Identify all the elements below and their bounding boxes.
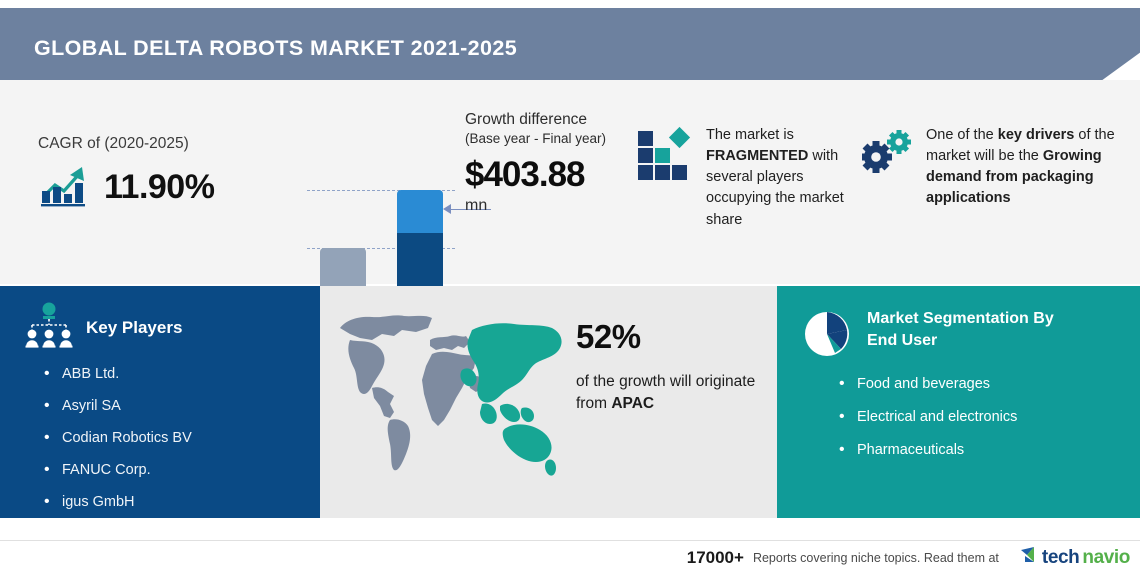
growth-unit: mn: [465, 197, 645, 215]
footer: 17000+ Reports covering niche topics. Re…: [0, 518, 1140, 570]
header-banner: GLOBAL DELTA ROBOTS MARKET 2021-2025: [0, 8, 1140, 80]
org-chart-people-icon: [24, 302, 74, 353]
drivers-emphasis-4: applications: [926, 190, 1011, 206]
drivers-emphasis-1: key drivers: [998, 127, 1075, 143]
report-count: 17000+: [687, 548, 744, 568]
segmentation-header: Market Segmentation By End User: [801, 308, 1082, 365]
list-item: Codian Robotics BV: [44, 430, 192, 446]
cagr-label: CAGR of (2020-2025): [38, 135, 214, 153]
callout-arrow-icon: [443, 204, 451, 214]
technavio-logo[interactable]: tech navio: [1020, 546, 1130, 569]
list-item: Food and beverages: [839, 376, 1017, 392]
stats-strip: CAGR of (2020-2025) 11.90%: [0, 80, 1140, 284]
logo-text-tech: tech: [1042, 547, 1079, 569]
bar-growth-segment: [397, 190, 443, 233]
pie-chart-icon: [801, 308, 853, 365]
list-item: igus GmbH: [44, 494, 192, 510]
list-item: Electrical and electronics: [839, 409, 1017, 425]
cagr-block: CAGR of (2020-2025) 11.90%: [38, 135, 214, 212]
region-percent: 52%: [576, 318, 641, 356]
region-name: APAC: [611, 395, 654, 412]
fragmented-text: The market is FRAGMENTED with several pl…: [706, 125, 866, 231]
growth-subtitle: (Base year - Final year): [465, 130, 645, 147]
growth-difference-block: Growth difference (Base year - Final yea…: [465, 110, 645, 215]
key-players-title: Key Players: [86, 318, 182, 338]
page-title: GLOBAL DELTA ROBOTS MARKET 2021-2025: [34, 36, 517, 61]
bar-chart-growth-icon: [38, 163, 90, 212]
key-drivers-block: One of the key drivers of the market wil…: [862, 125, 1116, 210]
growth-title: Growth difference: [465, 110, 645, 130]
key-players-header: Key Players: [24, 302, 182, 353]
list-item: Pharmaceuticals: [839, 442, 1017, 458]
infographic-canvas: GLOBAL DELTA ROBOTS MARKET 2021-2025 CAG…: [0, 0, 1140, 570]
fragmented-block: The market is FRAGMENTED with several pl…: [636, 125, 866, 231]
footer-divider: [0, 540, 1140, 541]
drivers-emphasis-3: from packaging: [986, 169, 1094, 185]
list-item: ABB Ltd.: [44, 366, 192, 382]
segmentation-title: Market Segmentation By End User: [867, 308, 1082, 365]
gears-icon: [862, 125, 914, 210]
logo-text-navio: navio: [1082, 547, 1130, 569]
technavio-arrow-icon: [1020, 546, 1039, 569]
cagr-value: 11.90%: [104, 168, 214, 207]
world-map: [332, 300, 572, 490]
key-drivers-text: One of the key drivers of the market wil…: [926, 125, 1116, 210]
market-segmentation-panel: Market Segmentation By End User Food and…: [777, 286, 1140, 518]
fragmented-blocks-icon: [636, 125, 692, 231]
fragmented-emphasis: FRAGMENTED: [706, 148, 808, 164]
footer-content: 17000+ Reports covering niche topics. Re…: [687, 546, 1130, 569]
key-players-panel: Key Players ABB Ltd. Asyril SA Codian Ro…: [0, 286, 320, 518]
region-growth-panel: 52% of the growth will originate from AP…: [320, 286, 777, 518]
list-item: Asyril SA: [44, 398, 192, 414]
key-players-list: ABB Ltd. Asyril SA Codian Robotics BV FA…: [44, 366, 192, 526]
region-description: of the growth will originate from APAC: [576, 371, 756, 415]
growth-difference-chart: 2020 Base Year 2025 Final Year: [307, 108, 467, 298]
footer-text: Reports covering niche topics. Read them…: [753, 551, 999, 565]
list-item: FANUC Corp.: [44, 462, 192, 478]
growth-value: $403.88: [465, 155, 645, 195]
segmentation-list: Food and beverages Electrical and electr…: [839, 376, 1017, 475]
